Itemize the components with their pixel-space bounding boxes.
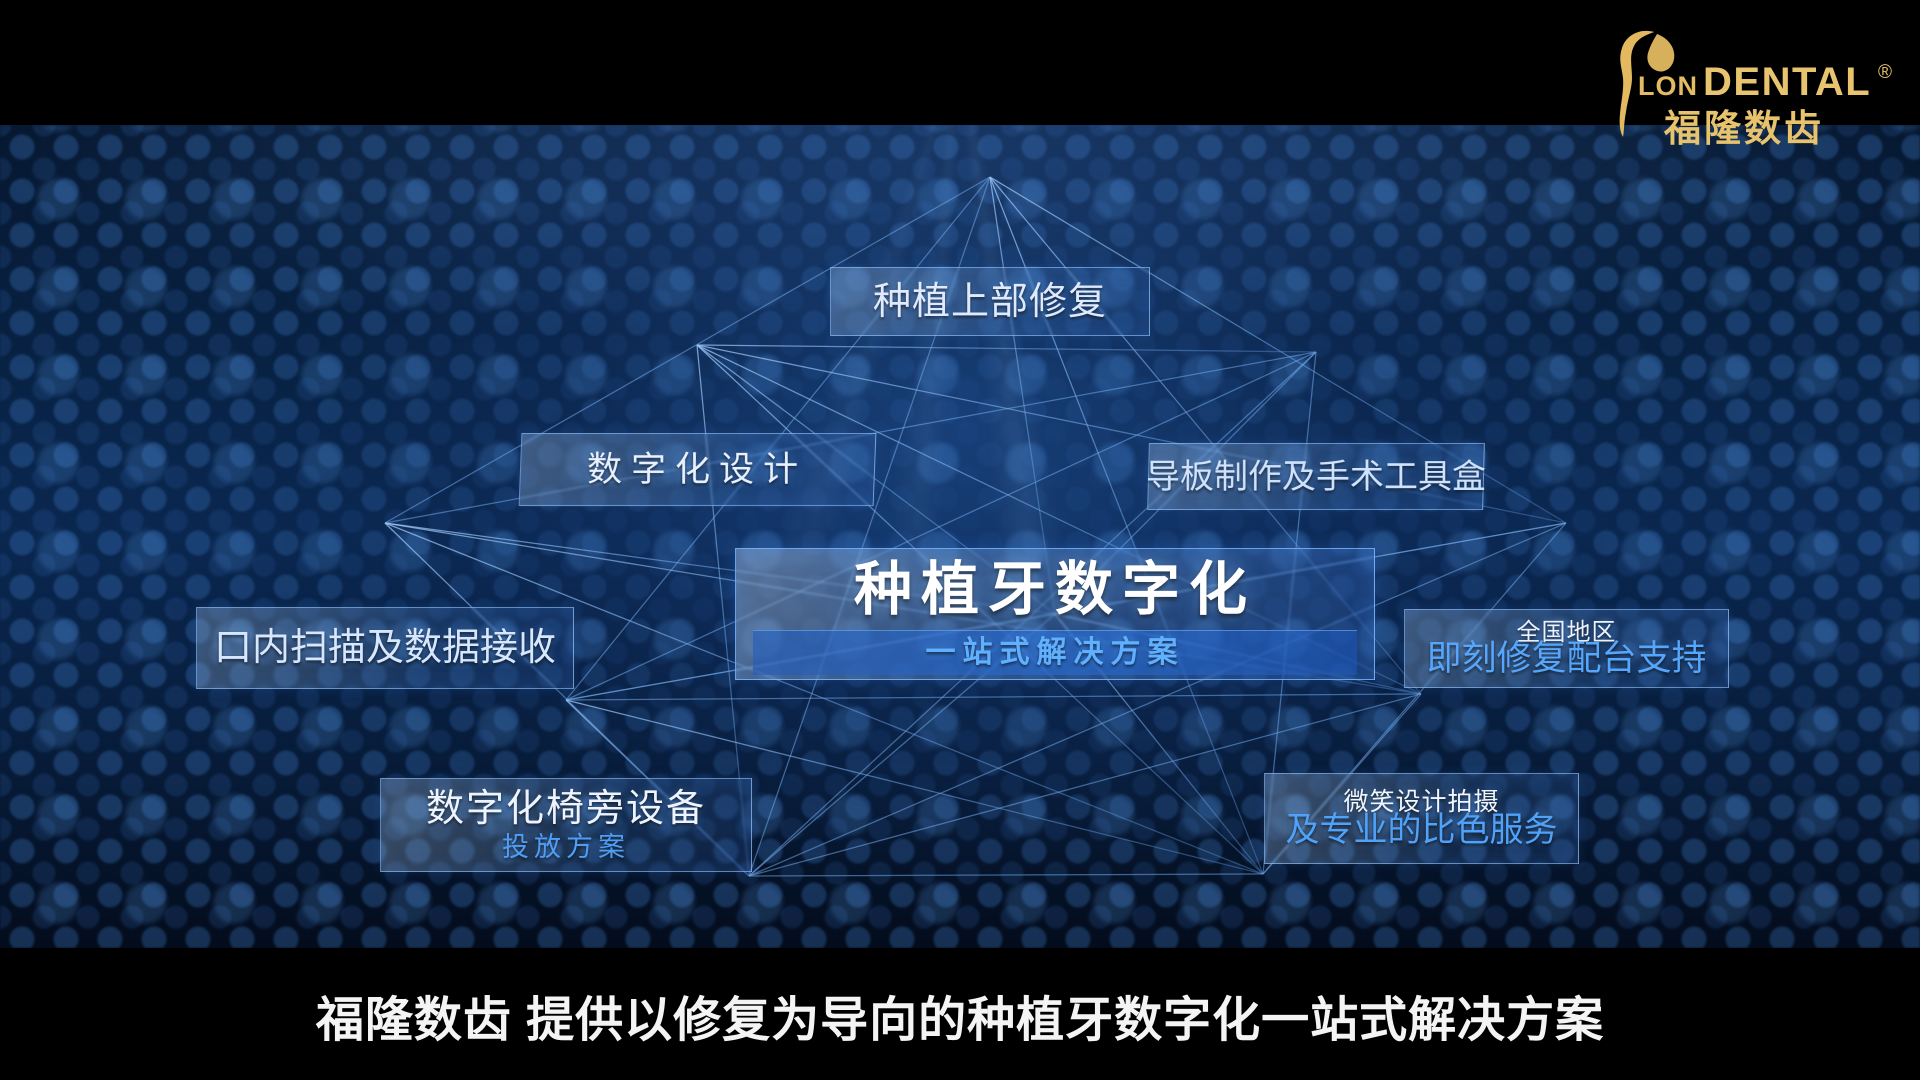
node-top-restoration[interactable]: 种植上部修复 bbox=[830, 267, 1150, 336]
diagram-scene: 种植上部修复 数字化设计 导板制作及手术工具盒 口内扫描及数据接收 全国地区 即… bbox=[0, 125, 1920, 948]
node-label-line1: 数字化设计 bbox=[587, 452, 807, 487]
node-chairside-equipment[interactable]: 数字化椅旁设备 投放方案 bbox=[380, 778, 752, 872]
node-intraoral-scan-data[interactable]: 口内扫描及数据接收 bbox=[196, 607, 574, 689]
presentation-stage: 种植上部修复 数字化设计 导板制作及手术工具盒 口内扫描及数据接收 全国地区 即… bbox=[0, 0, 1920, 1080]
node-guide-and-surgical-kit[interactable]: 导板制作及手术工具盒 bbox=[1147, 443, 1485, 510]
node-label-line2: 即刻修复配台支持 bbox=[1426, 641, 1706, 676]
subtitle-caption: 福隆数齿 提供以修复为导向的种植牙数字化一站式解决方案 bbox=[0, 972, 1920, 1058]
registered-icon: ® bbox=[1878, 62, 1892, 84]
node-label-line2: 投放方案 bbox=[502, 834, 630, 861]
node-label-line1: 导板制作及手术工具盒 bbox=[1146, 460, 1486, 494]
node-smile-design-shade-matching[interactable]: 微笑设计拍摄 及专业的比色服务 bbox=[1264, 773, 1579, 864]
node-label-line1: 口内扫描及数据接收 bbox=[214, 629, 556, 667]
node-label-line1: 种植上部修复 bbox=[873, 283, 1107, 321]
node-nationwide-immediate-restoration[interactable]: 全国地区 即刻修复配台支持 bbox=[1404, 609, 1729, 688]
network-lines bbox=[0, 125, 1920, 948]
node-center-hub[interactable]: 种植牙数字化 一站式解决方案 bbox=[735, 548, 1375, 680]
center-title: 种植牙数字化 bbox=[854, 561, 1256, 619]
center-subtitle-band: 一站式解决方案 bbox=[753, 630, 1357, 675]
node-label-line2: 及专业的比色服务 bbox=[1286, 813, 1558, 847]
brand-logo: LON DENTAL ® 福隆数齿 bbox=[1590, 28, 1890, 136]
node-digital-design[interactable]: 数字化设计 bbox=[519, 433, 877, 506]
node-label-line1: 数字化椅旁设备 bbox=[426, 790, 706, 828]
center-subtitle: 一站式解决方案 bbox=[926, 638, 1185, 668]
logo-chinese-name: 福隆数齿 bbox=[1664, 98, 1824, 152]
